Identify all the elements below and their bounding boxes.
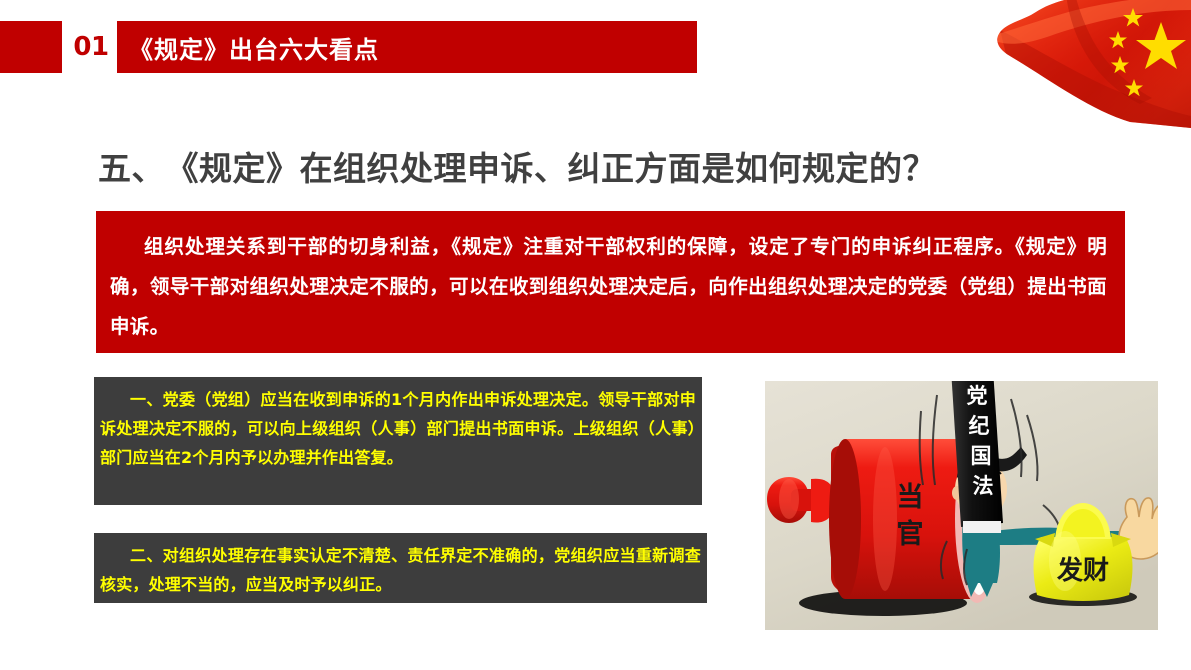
point-box-2: 二、对组织处理存在事实认定不清楚、责任界定不准确的，党组织应当重新调查核实，处理… bbox=[94, 533, 707, 603]
flag-stars bbox=[1109, 8, 1186, 96]
section-number: 01 bbox=[68, 21, 114, 73]
drum-label: 当 bbox=[897, 482, 924, 513]
red-callout-box: 组织处理关系到干部的切身利益，《规定》注重对干部权利的保障，设定了专门的申诉纠正… bbox=[96, 211, 1125, 353]
blade-label-1: 党 bbox=[967, 384, 988, 408]
point-box-1: 一、党委（党组）应当在收到申诉的1个月内作出申诉处理决定。领导干部对申诉处理决定… bbox=[94, 377, 702, 505]
drum-label-2: 官 bbox=[897, 518, 924, 550]
blade-label-2: 纪 bbox=[969, 414, 990, 438]
header-banner: 01 《规定》出台六大看点 bbox=[0, 21, 697, 73]
header-accent-block bbox=[0, 21, 62, 73]
red-callout-text: 组织处理关系到干部的切身利益，《规定》注重对干部权利的保障，设定了专门的申诉纠正… bbox=[110, 227, 1107, 347]
drum-handle bbox=[767, 477, 835, 523]
blade-label-3: 国 bbox=[971, 444, 992, 468]
political-cartoon-image: 当 官 bbox=[765, 381, 1158, 630]
chinese-flag-icon bbox=[980, 0, 1191, 128]
point-box-1-text: 一、党委（党组）应当在收到申诉的1个月内作出申诉处理决定。领导干部对申诉处理决定… bbox=[100, 385, 696, 472]
header-title-label: 《规定》出台六大看点 bbox=[129, 30, 379, 65]
point-box-2-text: 二、对组织处理存在事实认定不清楚、责任界定不准确的，党组织应当重新调查核实，处理… bbox=[100, 541, 701, 599]
header-title-block: 《规定》出台六大看点 bbox=[117, 21, 697, 73]
page-title: 五、 《规定》在组织处理申诉、纠正方面是如何规定的？ bbox=[98, 142, 1138, 190]
blade-label-4: 法 bbox=[973, 474, 994, 498]
ingot-label: 发财 bbox=[1056, 555, 1109, 586]
